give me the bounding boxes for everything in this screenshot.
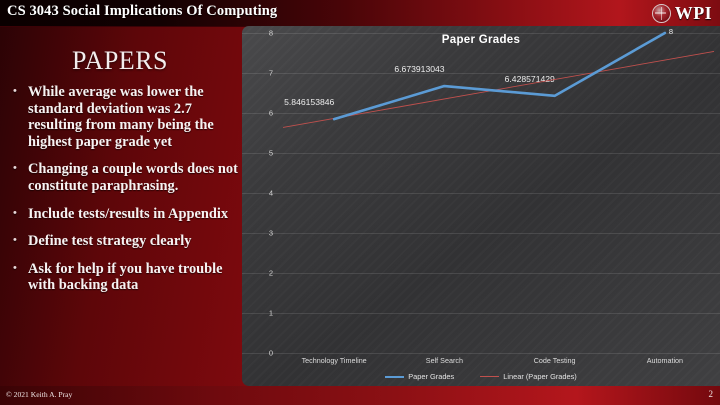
legend-swatch-blue	[385, 376, 404, 378]
chart-title: Paper Grades	[242, 34, 720, 46]
legend-item-linear-trend: Linear (Paper Grades)	[480, 372, 577, 381]
wpi-wordmark: WPI	[675, 4, 712, 22]
list-item: Define test strategy clearly	[8, 233, 240, 250]
page-title: PAPERS	[0, 46, 240, 76]
list-item: Include tests/results in Appendix	[8, 206, 240, 223]
page-number: 2	[709, 389, 714, 399]
bullet-list: While average was lower the standard dev…	[8, 84, 240, 305]
wpi-seal-icon	[652, 4, 671, 23]
left-content-panel: PAPERS While average was lower the stand…	[0, 26, 240, 386]
list-item: Changing a couple words does not constit…	[8, 161, 240, 194]
slide-footer: © 2021 Keith A. Pray 2	[0, 386, 720, 405]
chart-panel: Paper Grades 012345678Technology Timelin…	[242, 26, 720, 386]
list-item: While average was lower the standard dev…	[8, 84, 240, 150]
slide: CS 3043 Social Implications Of Computing…	[0, 0, 720, 405]
wpi-brand: WPI	[652, 1, 712, 25]
slide-header: CS 3043 Social Implications Of Computing…	[0, 0, 720, 27]
course-title: CS 3043 Social Implications Of Computing	[7, 3, 277, 20]
copyright-text: © 2021 Keith A. Pray	[6, 390, 72, 399]
chart-series-svg	[242, 26, 720, 386]
legend-item-paper-grades: Paper Grades	[385, 372, 454, 381]
legend-label: Linear (Paper Grades)	[503, 372, 577, 381]
chart-legend: Paper Grades Linear (Paper Grades)	[242, 372, 720, 381]
legend-swatch-red	[480, 376, 499, 377]
list-item: Ask for help if you have trouble with ba…	[8, 261, 240, 294]
legend-label: Paper Grades	[408, 372, 454, 381]
